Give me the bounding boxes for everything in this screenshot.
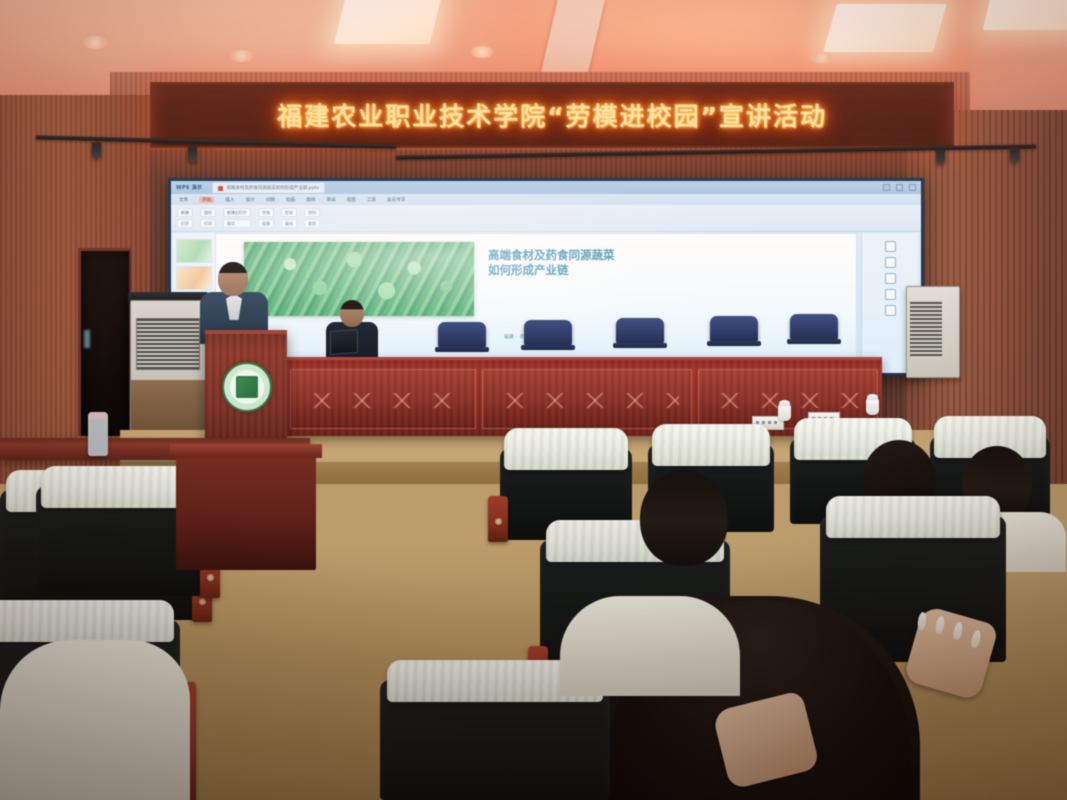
ceiling-panel-light-3 — [983, 0, 1067, 30]
ceiling-panel-light-2 — [823, 4, 947, 52]
toolbar-group-5[interactable]: 排列 查找 — [304, 208, 320, 228]
ceiling-downlight-5 — [810, 52, 834, 64]
file-type-icon — [218, 186, 223, 191]
laptop-icon[interactable] — [330, 329, 358, 355]
teacup-2 — [866, 398, 879, 415]
document-tab-label: 高端食材及药食同源蔬菜如何形成产业链.pptx — [226, 185, 319, 191]
ceiling-panel-light-1 — [334, 0, 442, 44]
menu-item-6[interactable]: 放映 — [306, 197, 315, 203]
seat-headrest-cover — [652, 424, 770, 466]
window-controls[interactable] — [883, 184, 916, 191]
menu-item-1[interactable]: 开始 — [199, 197, 214, 203]
led-banner: 福建农业职业技术学院“劳模进校园”宣讲活动 — [150, 82, 954, 148]
toolbar-group-5-top[interactable]: 排列 — [304, 208, 320, 217]
app-logo: WPS 演示 — [176, 184, 202, 191]
air-cooler-grille-icon — [136, 318, 200, 370]
doorway-light-strip — [84, 330, 90, 348]
head-table-panel-1 — [290, 369, 476, 429]
toolbar-group-5-bottom[interactable]: 查找 — [304, 219, 320, 228]
side-aisle-desk-top — [170, 444, 322, 458]
close-icon[interactable] — [909, 184, 916, 191]
toolbar-group-4[interactable]: 形状 填充 — [281, 208, 297, 228]
menu-item-8[interactable]: 视图 — [347, 197, 356, 203]
menu-item-2[interactable]: 插入 — [225, 197, 234, 203]
toolbar-group-3[interactable]: 字体 段落 — [258, 208, 274, 228]
stage-chair-4[interactable] — [710, 316, 758, 342]
stage-chair-3[interactable] — [616, 318, 664, 344]
document-tab[interactable]: 高端食材及药食同源蔬菜如何形成产业链.pptx — [212, 182, 325, 193]
attendee-shoulder-3 — [0, 640, 190, 800]
ribbon-menu[interactable]: 文件 开始 插入 设计 切换 动画 放映 审阅 视图 工具 会员专享 — [171, 194, 921, 205]
attendee-head-4 — [640, 470, 728, 566]
menu-item-7[interactable]: 审阅 — [326, 197, 335, 203]
toolbar-group-2-top[interactable]: 新建幻灯片 — [223, 208, 251, 217]
ceiling-downlight-2 — [230, 50, 254, 62]
seat-headrest-cover — [504, 428, 628, 470]
toolbar-group-0-bottom[interactable]: 打开 — [177, 219, 193, 228]
menu-item-10[interactable]: 会员专享 — [387, 197, 405, 203]
toolbar-group-1-top[interactable]: 保存 — [200, 208, 216, 217]
toolbar-group-3-bottom[interactable]: 段落 — [258, 219, 274, 228]
seat-headrest-cover — [0, 600, 174, 642]
menu-item-3[interactable]: 设计 — [246, 197, 255, 203]
air-conditioner-grille-icon — [910, 300, 942, 356]
pane-icon-2[interactable] — [885, 257, 896, 268]
stage-chair-2[interactable] — [524, 320, 572, 346]
toolbar-group-0[interactable]: 新建 打开 — [177, 208, 193, 228]
menu-item-5[interactable]: 动画 — [286, 197, 295, 203]
spotlight-2[interactable] — [188, 146, 197, 162]
toolbar-group-4-bottom[interactable]: 填充 — [281, 219, 297, 228]
seated-host — [340, 300, 364, 327]
spotlight-4[interactable] — [1010, 146, 1019, 162]
spotlight-1[interactable] — [92, 142, 101, 158]
toolbar-group-2-bottom[interactable]: 版式 — [223, 219, 251, 228]
seat-headrest-cover — [826, 496, 1001, 538]
toolbar-group-0-top[interactable]: 新建 — [177, 208, 193, 217]
banner-text: 福建农业职业技术学院“劳模进校园”宣讲活动 — [277, 97, 827, 133]
slide-thumbnail-2[interactable] — [176, 266, 212, 290]
toolbar-group-3-top[interactable]: 字体 — [258, 208, 274, 217]
pane-icon-3[interactable] — [885, 273, 896, 284]
ceiling-downlight-1 — [82, 36, 108, 49]
app-title-bar: WPS 演示 高端食材及药食同源蔬菜如何形成产业链.pptx — [171, 181, 921, 194]
attendee-shoulder-4 — [560, 596, 740, 696]
slide-thumbnail-1[interactable] — [176, 239, 212, 263]
table-pattern-1 — [302, 393, 464, 408]
speaker-at-podium — [218, 262, 248, 296]
armrest-stud-icon — [495, 518, 502, 525]
spotlight-3[interactable] — [936, 148, 945, 164]
thermos-bottle — [88, 412, 108, 456]
stage-chair-1[interactable] — [438, 322, 486, 348]
head-table-panel-2 — [482, 369, 692, 429]
toolbar-group-4-top[interactable]: 形状 — [281, 208, 297, 217]
menu-item-4[interactable]: 切换 — [266, 197, 275, 203]
toolbar-group-2[interactable]: 新建幻灯片 版式 — [223, 208, 251, 228]
restore-icon[interactable] — [896, 184, 903, 191]
menu-item-9[interactable]: 工具 — [367, 197, 376, 203]
pane-icon-5[interactable] — [885, 305, 896, 316]
ribbon-toolbar[interactable]: 新建 打开 保存 打印 新建幻灯片 版式 字体 段落 形状 填充 — [171, 205, 921, 232]
armrest-stud-icon — [199, 598, 206, 605]
table-pattern-2 — [495, 393, 678, 408]
slide-title: 高端食材及药食同源蔬菜如何形成产业链 — [488, 248, 618, 278]
toolbar-group-1[interactable]: 保存 打印 — [200, 208, 216, 228]
auditorium-photo: 福建农业职业技术学院“劳模进校园”宣讲活动 WPS 演示 高端食材及药食同源蔬菜… — [0, 0, 1067, 800]
armrest-stud-icon — [207, 574, 214, 581]
side-aisle-desk — [176, 450, 316, 570]
stage-chair-5[interactable] — [790, 314, 838, 340]
school-crest-icon — [222, 362, 272, 412]
minimize-icon[interactable] — [883, 184, 890, 191]
menu-item-0[interactable]: 文件 — [179, 197, 188, 203]
slide-canvas[interactable]: 高端食材及药食同源蔬菜如何形成产业链 福建 · 农业科技有限公司 — [215, 233, 857, 371]
ceiling-downlight-3 — [470, 46, 494, 58]
pane-icon-1[interactable] — [885, 241, 896, 252]
seat-armrest-left[interactable] — [488, 496, 508, 542]
toolbar-group-1-bottom[interactable]: 打印 — [200, 219, 216, 228]
pane-icon-4[interactable] — [885, 289, 896, 300]
